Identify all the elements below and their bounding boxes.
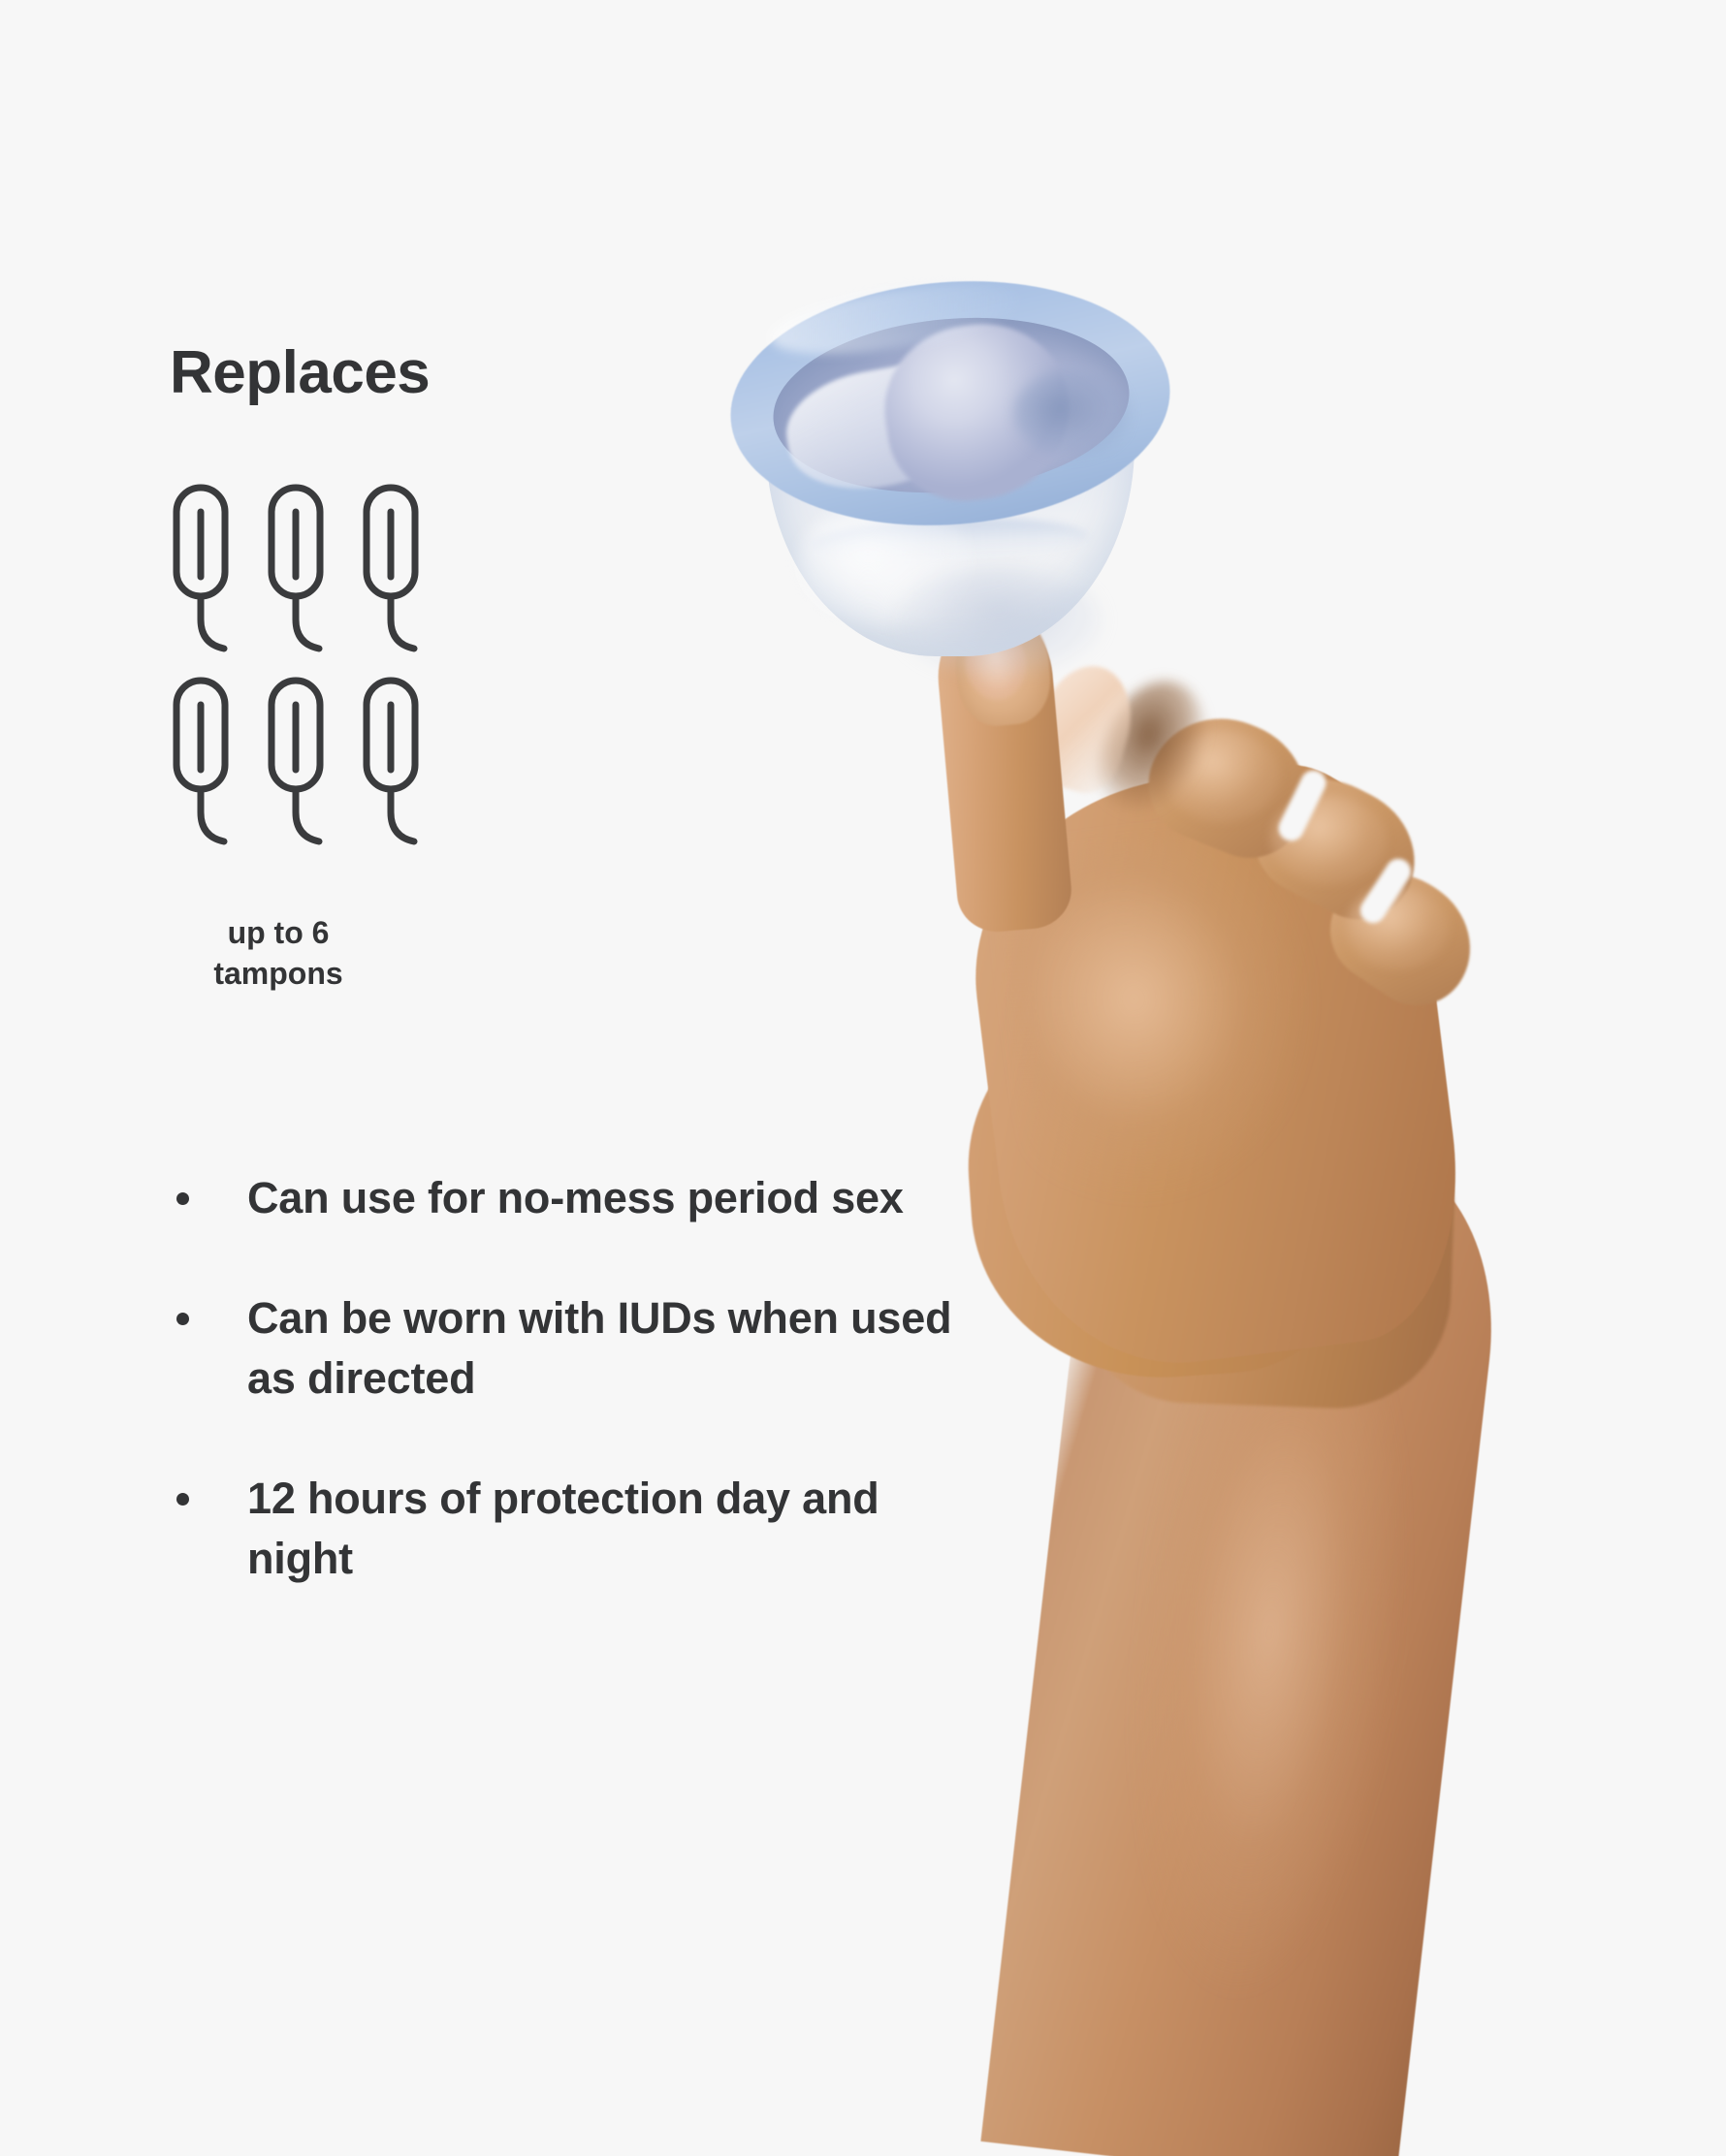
tampon-icon: [266, 483, 337, 659]
tampon-icon: [171, 483, 242, 659]
tampon-icon: [266, 676, 337, 852]
tampon-icon: [171, 676, 242, 852]
disc-bowl-shadow: [897, 567, 1101, 674]
bullet-icon: [176, 1493, 189, 1506]
page-title: Replaces: [170, 343, 430, 403]
product-feature-panel: Replaces: [0, 0, 1726, 2156]
tampon-icon-row: [171, 483, 462, 659]
product-photo: [679, 0, 1726, 2156]
tampon-icon: [361, 483, 432, 659]
bullet-icon: [176, 1192, 189, 1205]
tampon-icon-row: [171, 676, 462, 852]
tampon-equivalence-caption: up to 6 tampons: [171, 913, 386, 994]
menstrual-disc: [722, 276, 1178, 683]
disc-rim-shadow: [1013, 369, 1130, 457]
knuckle-highlight: [1346, 886, 1449, 969]
bullet-icon: [176, 1313, 189, 1325]
tampon-icon: [361, 676, 432, 852]
tampon-icon-grid: [171, 483, 462, 852]
